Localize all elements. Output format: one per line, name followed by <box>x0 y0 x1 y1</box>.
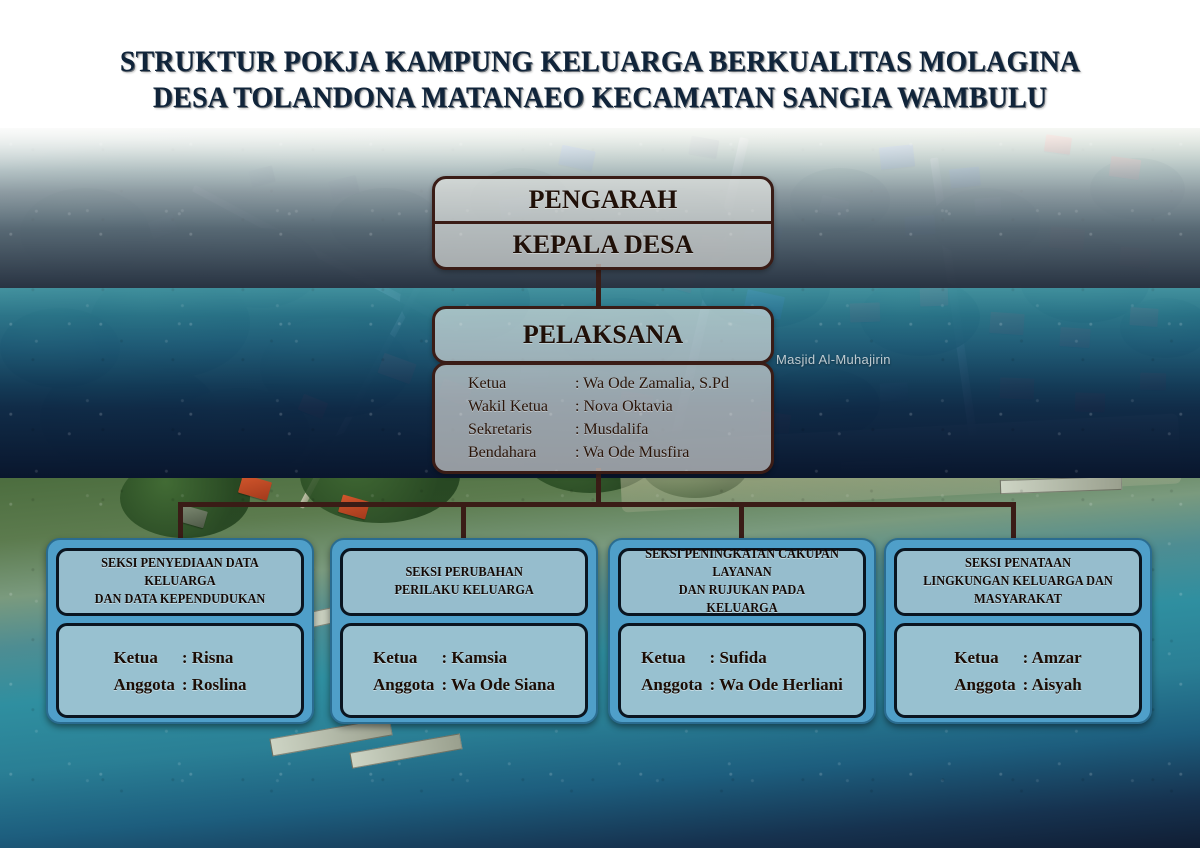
section-card-penyediaan-data[interactable]: SEKSI PENYEDIAAN DATA KELUARGA DAN DATA … <box>46 538 314 724</box>
map-label-masjid: Masjid Al-Muhajirin <box>776 352 891 367</box>
table-row: Ketua : Amzar <box>953 644 1082 671</box>
pelaksana-heading: PELAKSANA <box>523 320 683 350</box>
role-label: Anggota <box>372 671 440 698</box>
node-pelaksana-header[interactable]: PELAKSANA <box>432 306 774 364</box>
role-label: Sekretaris <box>467 418 573 441</box>
section-body-4: Ketua : Amzar Anggota : Aisyah <box>894 623 1142 718</box>
section-header-3: SEKSI PENINGKATAN CAKUPAN LAYANAN DAN RU… <box>618 548 866 616</box>
pengarah-subheading: KEPALA DESA <box>435 224 771 266</box>
pelaksana-member-table: Ketua: Wa Ode Zamalia, S.PdWakil Ketua: … <box>467 372 771 464</box>
pengarah-heading: PENGARAH <box>435 179 771 221</box>
section-title-line-4b: LINGKUNGAN KELUARGA DAN MASYARAKAT <box>919 573 1118 609</box>
role-value: : Sufida <box>709 644 844 671</box>
title-line-1: STRUKTUR POKJA KAMPUNG KELUARGA BERKUALI… <box>42 44 1158 80</box>
connector-drop-section-2 <box>461 502 466 540</box>
section-card-perubahan-perilaku[interactable]: SEKSI PERUBAHAN PERILAKU KELUARGA Ketua … <box>330 538 598 724</box>
role-label: Ketua <box>112 644 180 671</box>
connector-horizontal-bus <box>178 502 1016 507</box>
table-row: Anggota : Wa Ode Herliani <box>640 671 844 698</box>
role-label: Ketua <box>467 372 573 395</box>
role-label: Anggota <box>953 671 1021 698</box>
role-label: Anggota <box>640 671 708 698</box>
section-member-table-2: Ketua : Kamsia Anggota : Wa Ode Siana <box>372 644 556 698</box>
section-header-2: SEKSI PERUBAHAN PERILAKU KELUARGA <box>340 548 588 616</box>
section-title-line-1a: SEKSI PENYEDIAAN DATA KELUARGA <box>81 555 280 591</box>
node-pelaksana-detail[interactable]: Ketua: Wa Ode Zamalia, S.PdWakil Ketua: … <box>432 362 774 474</box>
section-body-2: Ketua : Kamsia Anggota : Wa Ode Siana <box>340 623 588 718</box>
section-header-text-3: SEKSI PENINGKATAN CAKUPAN LAYANAN DAN RU… <box>643 546 842 618</box>
role-value: : Wa Ode Zamalia, S.Pd <box>573 372 771 395</box>
organization-chart-poster: Masjid Al-Muhajirin STRUKTUR POKJA KAMPU… <box>0 0 1200 848</box>
role-label: Anggota <box>112 671 180 698</box>
section-header-4: SEKSI PENATAAN LINGKUNGAN KELUARGA DAN M… <box>894 548 1142 616</box>
table-row: Anggota : Roslina <box>112 671 247 698</box>
role-value: : Risna <box>181 644 248 671</box>
section-header-text-2: SEKSI PERUBAHAN PERILAKU KELUARGA <box>394 564 533 600</box>
role-value: : Wa Ode Siana <box>440 671 556 698</box>
node-pengarah[interactable]: PENGARAH KEPALA DESA <box>432 176 774 270</box>
connector-drop-section-4 <box>1011 502 1016 540</box>
section-header-text-4: SEKSI PENATAAN LINGKUNGAN KELUARGA DAN M… <box>919 555 1118 609</box>
connector-drop-section-3 <box>739 502 744 540</box>
role-value: : Wa Ode Herliani <box>709 671 844 698</box>
table-row: Sekretaris: Musdalifa <box>467 418 771 441</box>
table-row: Anggota : Wa Ode Siana <box>372 671 556 698</box>
connector-drop-section-1 <box>178 502 183 540</box>
role-label: Ketua <box>640 644 708 671</box>
role-label: Ketua <box>372 644 440 671</box>
section-body-1: Ketua : Risna Anggota : Roslina <box>56 623 304 718</box>
role-value: : Aisyah <box>1022 671 1083 698</box>
section-title-line-3b: DAN RUJUKAN PADA KELUARGA <box>643 582 842 618</box>
section-member-table-3: Ketua : Sufida Anggota : Wa Ode Herliani <box>640 644 844 698</box>
role-value: : Musdalifa <box>573 418 771 441</box>
section-member-table-4: Ketua : Amzar Anggota : Aisyah <box>953 644 1082 698</box>
role-label: Bendahara <box>467 441 573 464</box>
role-label: Ketua <box>953 644 1021 671</box>
role-value: : Roslina <box>181 671 248 698</box>
section-header-text-1: SEKSI PENYEDIAAN DATA KELUARGA DAN DATA … <box>81 555 280 609</box>
title-line-2: DESA TOLANDONA MATANAEO KECAMATAN SANGIA… <box>42 80 1158 116</box>
section-title-line-3a: SEKSI PENINGKATAN CAKUPAN LAYANAN <box>643 546 842 582</box>
role-value: : Wa Ode Musfira <box>573 441 771 464</box>
table-row: Wakil Ketua: Nova Oktavia <box>467 395 771 418</box>
table-row: Bendahara: Wa Ode Musfira <box>467 441 771 464</box>
section-member-table-1: Ketua : Risna Anggota : Roslina <box>112 644 247 698</box>
table-row: Anggota : Aisyah <box>953 671 1082 698</box>
section-title-line-2a: SEKSI PERUBAHAN <box>394 564 533 582</box>
table-row: Ketua : Risna <box>112 644 247 671</box>
section-header-1: SEKSI PENYEDIAAN DATA KELUARGA DAN DATA … <box>56 548 304 616</box>
role-value: : Amzar <box>1022 644 1083 671</box>
role-value: : Kamsia <box>440 644 556 671</box>
section-body-3: Ketua : Sufida Anggota : Wa Ode Herliani <box>618 623 866 718</box>
role-value: : Nova Oktavia <box>573 395 771 418</box>
section-card-penataan-lingkungan[interactable]: SEKSI PENATAAN LINGKUNGAN KELUARGA DAN M… <box>884 538 1152 724</box>
section-card-peningkatan-cakupan[interactable]: SEKSI PENINGKATAN CAKUPAN LAYANAN DAN RU… <box>608 538 876 724</box>
section-title-line-4a: SEKSI PENATAAN <box>919 555 1118 573</box>
section-title-line-2b: PERILAKU KELUARGA <box>394 582 533 600</box>
page-title: STRUKTUR POKJA KAMPUNG KELUARGA BERKUALI… <box>0 44 1200 116</box>
table-row: Ketua : Kamsia <box>372 644 556 671</box>
connector-pengarah-to-pelaksana <box>596 264 601 308</box>
section-title-line-1b: DAN DATA KEPENDUDUKAN <box>81 591 280 609</box>
table-row: Ketua: Wa Ode Zamalia, S.Pd <box>467 372 771 395</box>
role-label: Wakil Ketua <box>467 395 573 418</box>
table-row: Ketua : Sufida <box>640 644 844 671</box>
